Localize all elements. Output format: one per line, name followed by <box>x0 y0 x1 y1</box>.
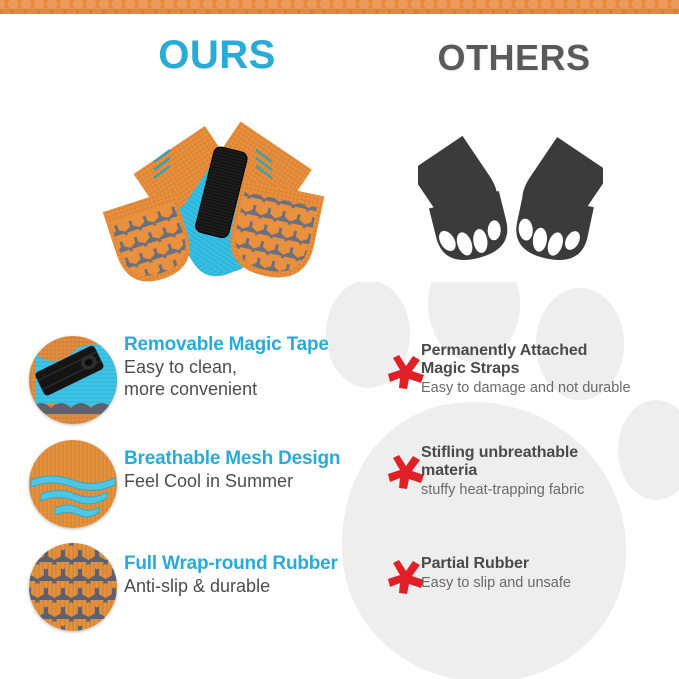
ours-feature-subtitle-line1: Feel Cool in Summer <box>124 471 386 492</box>
ours-feature-subtitle-line1: Anti-slip & durable <box>124 576 386 597</box>
ours-feature-subtitle-line2: more convenient <box>124 379 386 400</box>
others-feature-text: Stifling unbreathable materia stuffy hea… <box>421 444 671 499</box>
ours-feature-title: Removable Magic Tape <box>124 334 386 356</box>
ours-feature-text: Removable Magic Tape Easy to clean, more… <box>124 334 386 400</box>
others-feature-title-line2: Magic Straps <box>421 360 671 378</box>
others-feature-subtitle: Easy to damage and not durable <box>421 380 671 397</box>
ours-feature-title: Breathable Mesh Design <box>124 448 386 470</box>
feature-row: Removable Magic Tape Easy to clean, more… <box>0 330 679 430</box>
feature-row: Full Wrap-round Rubber Anti-slip & durab… <box>0 537 679 637</box>
hero-image-others <box>418 128 603 293</box>
column-title-ours: OURS <box>142 33 292 78</box>
others-feature-title-line1: Permanently Attached <box>421 342 671 360</box>
comparison-infographic: OURS OTHERS <box>0 0 679 679</box>
others-feature-title-line1: Partial Rubber <box>421 555 671 573</box>
others-feature-title-line1: Stifling unbreathable <box>421 444 671 462</box>
others-feature-text: Partial Rubber Easy to slip and unsafe <box>421 555 671 592</box>
red-x-icon <box>387 354 425 390</box>
others-feature-subtitle: Easy to slip and unsafe <box>421 575 671 592</box>
others-feature-title-line2: materia <box>421 462 671 480</box>
others-feature-text: Permanently Attached Magic Straps Easy t… <box>421 342 671 397</box>
breathable-mesh-thumb <box>29 440 117 528</box>
top-orange-honeycomb-bar <box>0 0 679 14</box>
ours-feature-title: Full Wrap-round Rubber <box>124 553 386 575</box>
others-feature-subtitle: stuffy heat-trapping fabric <box>421 482 671 499</box>
column-title-others: OTHERS <box>425 37 603 79</box>
ours-feature-text: Full Wrap-round Rubber Anti-slip & durab… <box>124 553 386 597</box>
ours-feature-text: Breathable Mesh Design Feel Cool in Summ… <box>124 448 386 492</box>
full-wrap-rubber-thumb <box>29 543 117 631</box>
removable-magic-tape-thumb <box>29 336 117 424</box>
red-x-icon <box>387 454 425 490</box>
feature-row: Breathable Mesh Design Feel Cool in Summ… <box>0 434 679 534</box>
bar-shade <box>0 9 679 14</box>
red-x-icon <box>387 559 425 595</box>
ours-feature-subtitle-line1: Easy to clean, <box>124 357 386 378</box>
hero-image-ours <box>96 100 346 315</box>
